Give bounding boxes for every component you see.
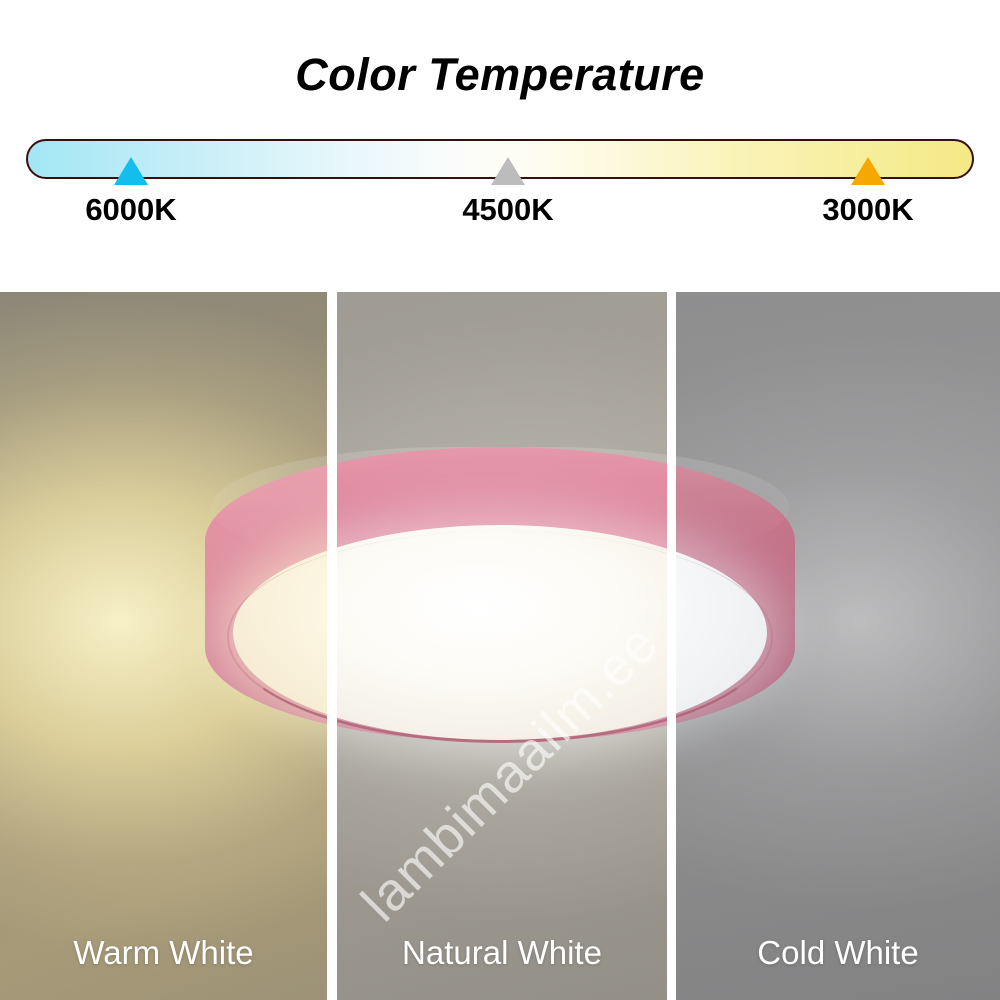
product-infographic: Color Temperature 6000K 4500K 3000K xyxy=(0,0,1000,1000)
panel-caption-warm-white: Warm White xyxy=(0,934,327,972)
header-section: Color Temperature 6000K 4500K 3000K xyxy=(0,0,1000,292)
panel-caption-cold-white: Cold White xyxy=(676,934,1000,972)
ceiling-lamp-cold xyxy=(676,447,795,747)
page-title: Color Temperature xyxy=(0,48,1000,102)
panel-caption-natural-white: Natural White xyxy=(337,934,667,972)
marker-6000k-triangle-up-icon xyxy=(114,157,148,185)
comparison-photo-strip: Warm White Natural White xyxy=(0,292,1000,1000)
panel-divider-left xyxy=(327,292,337,1000)
ceiling-lamp-natural xyxy=(337,447,667,747)
marker-3000k-triangle-up-icon xyxy=(851,157,885,185)
marker-4500k-triangle-up-icon xyxy=(491,157,525,185)
panel-warm-white: Warm White xyxy=(0,292,327,1000)
panel-cold-white: Cold White xyxy=(676,292,1000,1000)
kelvin-label-4500k: 4500K xyxy=(388,192,628,228)
kelvin-label-6000k: 6000K xyxy=(11,192,251,228)
lamp-rim-line xyxy=(337,531,667,743)
panel-natural-white: Natural White xyxy=(337,292,667,1000)
ceiling-lamp-warm xyxy=(205,447,327,747)
panel-divider-right xyxy=(667,292,676,1000)
kelvin-label-3000k: 3000K xyxy=(748,192,988,228)
